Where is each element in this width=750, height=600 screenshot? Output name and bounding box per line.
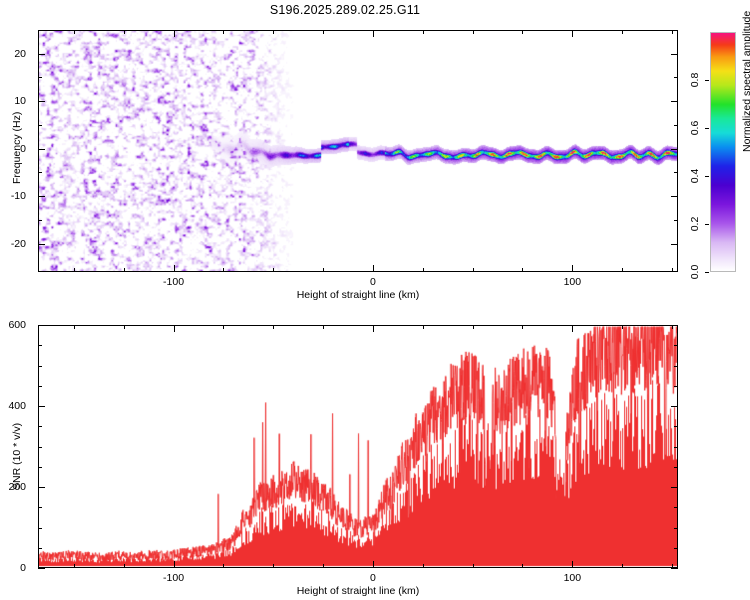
x-tick — [124, 30, 125, 34]
y-tick — [38, 149, 45, 150]
spectrogram-y-axis-label: Frequency (Hz) — [11, 112, 23, 184]
y-tick — [38, 528, 42, 529]
x-tick — [572, 265, 573, 272]
y-tick — [674, 548, 678, 549]
colorbar-tick-label: 0.8 — [689, 73, 701, 88]
x-tick — [174, 30, 175, 37]
x-tick-label: 100 — [564, 276, 582, 288]
y-tick — [674, 426, 678, 427]
y-tick-label: 10 — [0, 95, 26, 107]
colorbar-tick — [705, 176, 709, 177]
x-tick — [174, 561, 175, 568]
x-tick — [622, 564, 623, 568]
x-tick — [622, 268, 623, 272]
x-tick — [572, 30, 573, 37]
x-tick — [522, 564, 523, 568]
y-tick — [38, 220, 42, 221]
x-tick — [373, 30, 374, 37]
x-tick — [273, 268, 274, 272]
x-tick — [223, 325, 224, 329]
y-tick — [38, 507, 42, 508]
colorbar — [710, 32, 736, 272]
y-tick — [38, 467, 42, 468]
y-tick — [674, 345, 678, 346]
colorbar-tick — [705, 224, 709, 225]
colorbar-tick — [705, 80, 709, 81]
colorbar-tick-label: 0.4 — [689, 169, 701, 184]
y-tick — [674, 77, 678, 78]
x-tick — [473, 30, 474, 34]
x-tick — [522, 30, 523, 34]
x-tick — [622, 30, 623, 34]
x-tick — [522, 325, 523, 329]
y-tick-label: 0 — [0, 562, 26, 574]
x-tick — [373, 265, 374, 272]
spectrogram-canvas — [39, 31, 677, 271]
colorbar-tick — [705, 272, 709, 273]
y-tick — [671, 101, 678, 102]
y-tick — [38, 345, 42, 346]
x-tick — [74, 564, 75, 568]
y-tick-label: 20 — [0, 48, 26, 60]
x-tick-label: 0 — [370, 276, 376, 288]
x-tick-label: -100 — [163, 276, 184, 288]
x-tick — [273, 325, 274, 329]
y-tick — [671, 406, 678, 407]
snr-y-axis-label: SNR (10 * v/v) — [11, 423, 23, 490]
y-tick — [38, 447, 42, 448]
y-tick — [671, 325, 678, 326]
y-tick — [674, 386, 678, 387]
x-tick — [124, 564, 125, 568]
y-tick — [674, 125, 678, 126]
x-tick — [174, 265, 175, 272]
y-tick — [671, 487, 678, 488]
y-tick — [674, 366, 678, 367]
x-tick — [273, 30, 274, 34]
x-tick — [672, 30, 673, 34]
x-tick — [572, 561, 573, 568]
x-tick — [473, 325, 474, 329]
x-tick-label: -100 — [163, 572, 184, 584]
x-tick — [74, 30, 75, 34]
spectrogram-panel — [38, 30, 678, 272]
colorbar-tick-label: 0.6 — [689, 121, 701, 136]
snr-canvas — [39, 326, 677, 567]
y-tick — [674, 528, 678, 529]
spectrogram-x-axis-label: Height of straight line (km) — [297, 289, 420, 301]
colorbar-gradient — [710, 32, 736, 272]
x-tick — [174, 325, 175, 332]
y-tick — [38, 172, 42, 173]
y-tick — [38, 125, 42, 126]
x-tick — [572, 325, 573, 332]
x-tick — [74, 268, 75, 272]
y-tick-label: 400 — [0, 400, 26, 412]
x-tick — [423, 564, 424, 568]
colorbar-tick-label: 0.0 — [689, 265, 701, 280]
y-tick-label: 600 — [0, 319, 26, 331]
x-tick — [223, 30, 224, 34]
x-tick — [672, 268, 673, 272]
x-tick — [223, 564, 224, 568]
x-tick — [423, 325, 424, 329]
x-tick — [124, 325, 125, 329]
y-tick — [38, 406, 45, 407]
y-tick-label: -10 — [0, 190, 26, 202]
y-tick — [674, 447, 678, 448]
y-tick — [38, 568, 45, 569]
y-tick — [38, 77, 42, 78]
x-tick — [622, 325, 623, 329]
y-tick — [671, 244, 678, 245]
x-tick — [522, 268, 523, 272]
y-tick — [671, 54, 678, 55]
snr-panel — [38, 325, 678, 568]
y-tick — [38, 366, 42, 367]
x-tick — [223, 268, 224, 272]
y-tick — [38, 54, 45, 55]
colorbar-tick — [705, 128, 709, 129]
y-tick — [674, 220, 678, 221]
y-tick — [674, 172, 678, 173]
y-tick — [38, 426, 42, 427]
figure-root: S196.2025.289.02.25.G11 -1000100-20-1001… — [0, 0, 750, 600]
colorbar-title: Normalized spectral amplitude — [741, 11, 750, 152]
y-tick — [38, 196, 45, 197]
y-tick — [38, 244, 45, 245]
figure-title: S196.2025.289.02.25.G11 — [0, 3, 690, 17]
x-tick — [323, 30, 324, 34]
x-tick — [423, 30, 424, 34]
y-tick — [671, 196, 678, 197]
y-tick — [671, 149, 678, 150]
y-tick — [38, 548, 42, 549]
y-tick — [38, 101, 45, 102]
x-tick — [124, 268, 125, 272]
x-tick — [473, 268, 474, 272]
y-tick — [38, 325, 45, 326]
x-tick — [323, 268, 324, 272]
snr-x-axis-label: Height of straight line (km) — [297, 585, 420, 597]
y-tick — [674, 507, 678, 508]
y-tick-label: -20 — [0, 238, 26, 250]
y-tick — [38, 386, 42, 387]
x-tick — [373, 561, 374, 568]
y-tick — [671, 568, 678, 569]
y-tick — [38, 487, 45, 488]
colorbar-tick-label: 0.2 — [689, 217, 701, 232]
x-tick — [74, 325, 75, 329]
x-tick — [323, 325, 324, 329]
x-tick — [323, 564, 324, 568]
x-tick — [423, 268, 424, 272]
y-tick — [674, 467, 678, 468]
x-tick-label: 100 — [564, 572, 582, 584]
x-tick — [473, 564, 474, 568]
x-tick — [373, 325, 374, 332]
x-tick-label: 0 — [370, 572, 376, 584]
x-tick — [273, 564, 274, 568]
